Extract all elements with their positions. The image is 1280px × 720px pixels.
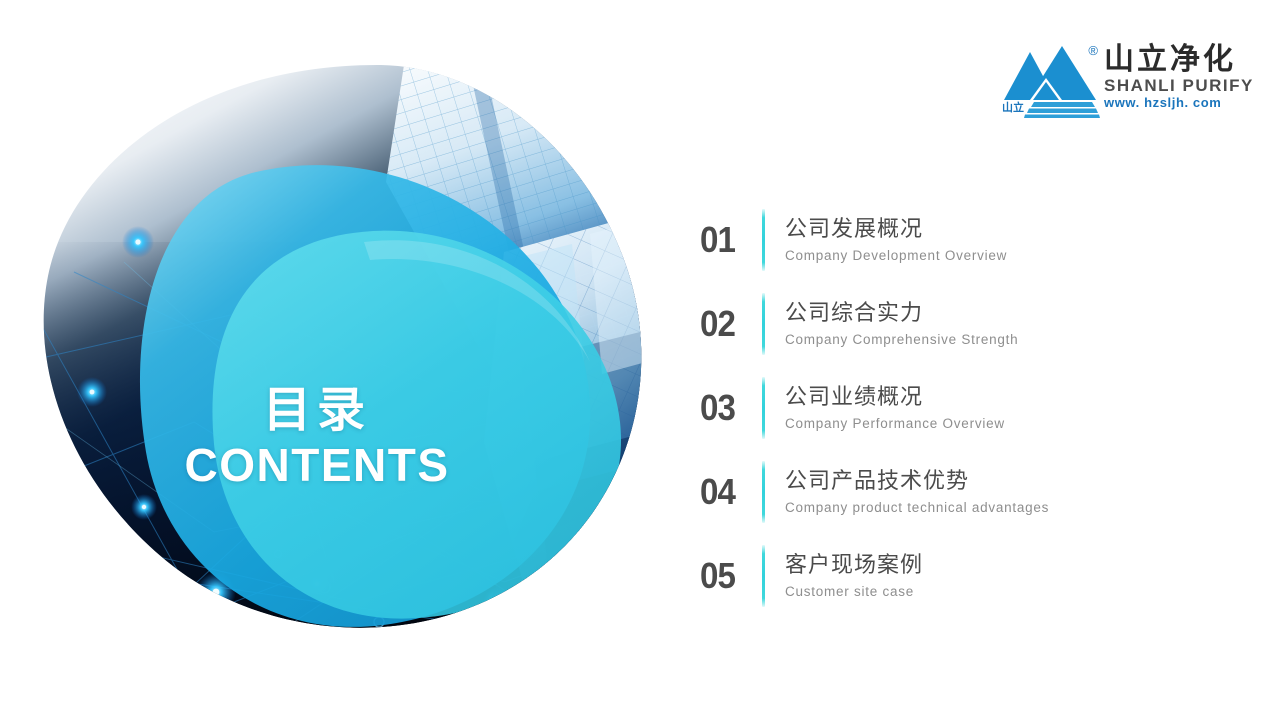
- contents-item-subtitle: Customer site case: [785, 583, 1245, 601]
- registered-trademark-icon: ®: [1088, 44, 1098, 57]
- contents-item-title: 公司综合实力: [785, 299, 1245, 327]
- contents-item-number: 01: [700, 222, 757, 258]
- company-logo: ® 山立 山立净化 SHANLI PURIFY www. hzsljh. com: [1000, 38, 1230, 120]
- logo-mark-label: 山立: [1002, 103, 1024, 114]
- contents-item-title: 客户现场案例: [785, 551, 1245, 579]
- contents-item-number: 03: [700, 390, 757, 426]
- contents-item-texts: 公司产品技术优势 Company product technical advan…: [785, 467, 1245, 517]
- contents-item-number: 05: [700, 558, 757, 594]
- contents-list: 01 公司发展概况 Company Development Overview 0…: [700, 198, 1245, 618]
- contents-item-title: 公司产品技术优势: [785, 467, 1245, 495]
- contents-item-02[interactable]: 02 公司综合实力 Company Comprehensive Strength: [700, 282, 1245, 366]
- shanli-mountain-logo-icon: ® 山立: [1000, 38, 1100, 118]
- contents-item-number: 02: [700, 306, 757, 342]
- contents-item-divider: [762, 545, 765, 607]
- logo-company-name-cn: 山立净化: [1104, 44, 1236, 76]
- contents-item-title: 公司发展概况: [785, 215, 1245, 243]
- contents-item-title: 公司业绩概况: [785, 383, 1245, 411]
- contents-item-divider: [762, 377, 765, 439]
- slide-root: ® 山立 山立净化 SHANLI PURIFY www. hzsljh. com: [0, 0, 1280, 720]
- contents-item-number: 04: [700, 474, 757, 510]
- contents-item-subtitle: Company Performance Overview: [785, 415, 1245, 433]
- contents-item-divider: [762, 461, 765, 523]
- contents-item-01[interactable]: 01 公司发展概况 Company Development Overview: [700, 198, 1245, 282]
- logo-website-url: www. hzsljh. com: [1104, 96, 1221, 110]
- contents-item-divider: [762, 293, 765, 355]
- contents-item-subtitle: Company Comprehensive Strength: [785, 331, 1245, 349]
- contents-item-texts: 公司发展概况 Company Development Overview: [785, 215, 1245, 265]
- contents-item-divider: [762, 209, 765, 271]
- contents-item-texts: 客户现场案例 Customer site case: [785, 551, 1245, 601]
- contents-item-03[interactable]: 03 公司业绩概况 Company Performance Overview: [700, 366, 1245, 450]
- contents-item-texts: 公司业绩概况 Company Performance Overview: [785, 383, 1245, 433]
- logo-wordmark: 山立净化 SHANLI PURIFY www. hzsljh. com: [1104, 38, 1254, 110]
- contents-item-texts: 公司综合实力 Company Comprehensive Strength: [785, 299, 1245, 349]
- contents-item-04[interactable]: 04 公司产品技术优势 Company product technical ad…: [700, 450, 1245, 534]
- hero-graphic: 目录 CONTENTS: [34, 62, 648, 638]
- contents-item-05[interactable]: 05 客户现场案例 Customer site case: [700, 534, 1245, 618]
- logo-company-name-en: SHANLI PURIFY: [1104, 77, 1254, 96]
- contents-item-subtitle: Company product technical advantages: [785, 499, 1245, 517]
- contents-item-subtitle: Company Development Overview: [785, 247, 1245, 265]
